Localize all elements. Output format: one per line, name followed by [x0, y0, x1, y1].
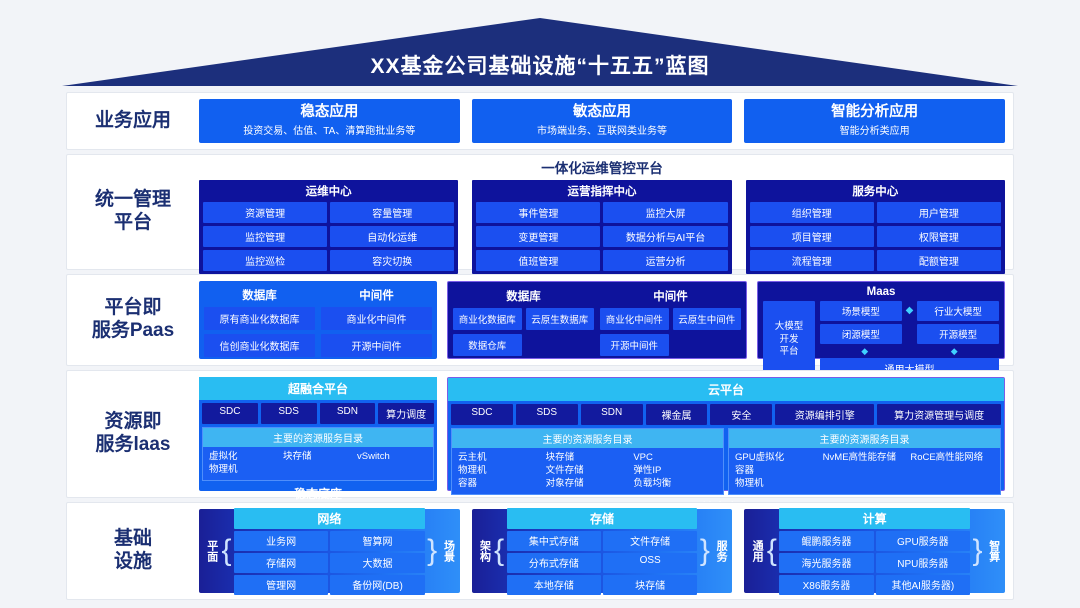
iaas-catalog-item: vSwitch [357, 451, 427, 463]
up-arrow-icon: ◆ [910, 347, 1000, 355]
iaas-catalog-item: GPU虚拟化 [735, 452, 819, 464]
row-label-business-apps: 业务应用 [67, 93, 199, 149]
iaas-catalog-col: 块存储 [283, 451, 353, 476]
infra-cell[interactable]: 存储网 [234, 553, 328, 573]
row-iaas: 资源即 服务laas 超融合平台 SDC SDS SDN 算力调度 主要的资源服… [66, 370, 1014, 498]
mgmt-cell[interactable]: 变更管理 [476, 226, 600, 247]
infra-cell[interactable]: 备份网(DB) [330, 575, 424, 595]
paas-maas-block: Maas 大模型 开发 平台 场景模型 ◆ 行业大模型 闭源模型 ◆ [757, 281, 1005, 359]
paas-item[interactable]: 开源中间件 [600, 334, 669, 356]
up-arrow-icon: ◆ [820, 347, 910, 355]
mgmt-cell[interactable]: 权限管理 [877, 226, 1001, 247]
mgmt-cell[interactable]: 资源管理 [203, 202, 327, 223]
paas-group-middleware-cloud: 中间件 商业化中间件 云原生中间件 开源中间件 [600, 287, 741, 353]
title-banner: XX基金公司基础设施“十五五”蓝图 [62, 18, 1018, 86]
unified-platform-columns: 运维中心 资源管理 容量管理 监控管理 自动化运维 监控巡检 容灾切换 运营指挥… [199, 180, 1005, 274]
paas-group-database-legacy: 数据库 原有商业化数据库 信创商业化数据库 [204, 286, 315, 354]
iaas-tag[interactable]: SDS [261, 403, 317, 424]
infra-card-compute: 通用 { 计算 鲲鹏服务器 GPU服务器 海光服务器 NPU服务器 X86服务器… [744, 509, 1005, 593]
infra-card-network: 平面 { 网络 业务网 智算网 存储网 大数据 管理网 备份网(DB) [199, 509, 460, 593]
mgmt-cell[interactable]: 自动化运维 [330, 226, 454, 247]
row-label-infrastructure: 基础 设施 [67, 503, 199, 599]
paas-item[interactable]: 信创商业化数据库 [204, 334, 315, 357]
infra-cell[interactable]: 管理网 [234, 575, 328, 595]
iaas-tag[interactable]: 资源编排引擎 [775, 404, 874, 425]
mgmt-column-operations-command-center[interactable]: 运营指挥中心 事件管理 监控大屏 变更管理 数据分析与AI平台 值班管理 运营分… [472, 180, 731, 274]
paas-group-title: 数据库 [204, 286, 315, 307]
iaas-catalog-col: NvME高性能存储 [823, 452, 907, 490]
infra-right-label: 服务 [712, 540, 728, 562]
row-label-paas: 平台即 服务Paas [67, 275, 199, 365]
app-card-title: 智能分析应用 [831, 103, 918, 123]
paas-group-title: 数据库 [453, 287, 594, 308]
infra-cell[interactable]: 智算网 [330, 531, 424, 551]
iaas-catalog: 主要的资源服务目录 GPU虚拟化 容器 物理机 NvME高性能存储 [728, 428, 1001, 495]
mgmt-cell[interactable]: 用户管理 [877, 202, 1001, 223]
mgmt-cell[interactable]: 容灾切换 [330, 250, 454, 271]
iaas-catalog-item: 容器 [458, 478, 542, 490]
iaas-tag[interactable]: 算力调度 [378, 403, 434, 424]
paas-group-database-cloud: 数据库 商业化数据库 云原生数据库 数据仓库 [453, 287, 594, 353]
mgmt-cell[interactable]: 项目管理 [750, 226, 874, 247]
mgmt-column-title: 运营指挥中心 [472, 180, 731, 202]
iaas-catalog-col: GPU虚拟化 容器 物理机 [735, 452, 819, 490]
iaas-hyperconverged-block: 超融合平台 SDC SDS SDN 算力调度 主要的资源服务目录 虚拟化 [199, 377, 437, 491]
maas-arrow-row: ◆ ◆ [820, 347, 999, 355]
mgmt-column-service-center[interactable]: 服务中心 组织管理 用户管理 项目管理 权限管理 流程管理 配额管理 [746, 180, 1005, 274]
infra-cell[interactable]: X86服务器 [779, 575, 873, 595]
iaas-catalog-item: 块存储 [546, 452, 630, 464]
paas-item[interactable]: 云原生中间件 [673, 308, 742, 330]
paas-group-title: 中间件 [600, 287, 741, 308]
infra-card-storage: 架构 { 存储 集中式存储 文件存储 分布式存储 OSS 本地存储 块存储 [472, 509, 733, 593]
iaas-tag[interactable]: SDC [202, 403, 258, 424]
maas-cell-scene-model[interactable]: 场景模型 [820, 301, 902, 321]
row-label-unified-management: 统一管理 平台 [67, 155, 199, 269]
infra-right-label: 智算 [985, 540, 1001, 562]
infra-left-label: 通用 [748, 540, 764, 562]
iaas-tag[interactable]: SDN [581, 404, 643, 425]
iaas-platform-title: 超融合平台 [199, 377, 437, 400]
mgmt-column-title: 运维中心 [199, 180, 458, 202]
maas-dev-platform[interactable]: 大模型 开发 平台 [763, 301, 815, 379]
mgmt-cell[interactable]: 流程管理 [750, 250, 874, 271]
iaas-cloud-platform-block: 云平台 SDC SDS SDN 裸金属 安全 资源编排引擎 算力资源管理与调度 … [447, 377, 1005, 491]
mgmt-cell[interactable]: 运营分析 [603, 250, 727, 271]
row-business-apps: 业务应用 稳态应用 投资交易、估值、TA、清算跑批业务等 敏态应用 市场端业务、… [66, 92, 1014, 150]
mgmt-cell[interactable]: 值班管理 [476, 250, 600, 271]
maas-cell-closed-source[interactable]: 闭源模型 [820, 324, 902, 344]
iaas-catalog-item: NvME高性能存储 [823, 452, 907, 464]
iaas-catalog-head: 主要的资源服务目录 [452, 429, 723, 448]
iaas-catalog-head: 主要的资源服务目录 [203, 428, 433, 447]
left-brace-icon: { [494, 536, 505, 566]
paas-item[interactable]: 商业化数据库 [453, 308, 522, 330]
app-card-title: 敏态应用 [573, 103, 631, 123]
infra-cell[interactable]: 文件存储 [603, 531, 697, 551]
mgmt-cell[interactable]: 事件管理 [476, 202, 600, 223]
app-card-title: 稳态应用 [300, 103, 358, 123]
right-brace-icon: } [699, 536, 710, 566]
iaas-catalog-item: 块存储 [283, 451, 353, 463]
infra-cell[interactable]: 业务网 [234, 531, 328, 551]
iaas-catalog-col: 云主机 物理机 容器 [458, 452, 542, 490]
iaas-tag[interactable]: 安全 [710, 404, 772, 425]
maas-cell-open-source[interactable]: 开源模型 [917, 324, 999, 344]
left-brace-icon: { [221, 536, 232, 566]
paas-item[interactable]: 商业化中间件 [600, 308, 669, 330]
blueprint-page: XX基金公司基础设施“十五五”蓝图 业务应用 稳态应用 投资交易、估值、TA、清… [0, 0, 1080, 608]
left-brace-icon: { [766, 536, 777, 566]
unified-platform-title: 一体化运维管控平台 [199, 161, 1005, 177]
bidirectional-arrow-icon: ◆ [906, 306, 914, 316]
iaas-catalog-col: RoCE高性能网络 [910, 452, 994, 490]
mgmt-column-title: 服务中心 [746, 180, 1005, 202]
paas-legacy-block: 数据库 原有商业化数据库 信创商业化数据库 中间件 商业化中间件 开源中间件 [199, 281, 437, 359]
mgmt-cell[interactable]: 配额管理 [877, 250, 1001, 271]
iaas-catalog-item: VPC [633, 452, 717, 464]
infra-cell[interactable]: OSS [603, 553, 697, 573]
infra-right-label: 场景 [440, 540, 456, 562]
infra-head: 网络 [234, 508, 425, 529]
iaas-catalog: 主要的资源服务目录 云主机 物理机 容器 块存储 文件存储 [451, 428, 724, 495]
mgmt-cell[interactable]: 组织管理 [750, 202, 874, 223]
iaas-tag[interactable]: 算力资源管理与调度 [877, 404, 1001, 425]
mgmt-cell[interactable]: 监控管理 [203, 226, 327, 247]
app-card-subtitle: 智能分析类应用 [840, 125, 910, 139]
row-paas: 平台即 服务Paas 数据库 原有商业化数据库 信创商业化数据库 中间件 商业化 [66, 274, 1014, 366]
paas-item[interactable]: 数据仓库 [453, 334, 522, 356]
infra-cell[interactable]: 海光服务器 [779, 553, 873, 573]
iaas-tag[interactable]: SDC [451, 404, 513, 425]
paas-cloudnative-block: 数据库 商业化数据库 云原生数据库 数据仓库 中间件 商业化中间件 云原生中间件… [447, 281, 747, 359]
paas-group-middleware-legacy: 中间件 商业化中间件 开源中间件 [321, 286, 432, 354]
business-app-cards: 稳态应用 投资交易、估值、TA、清算跑批业务等 敏态应用 市场端业务、互联网类业… [199, 99, 1005, 143]
paas-group-title: 中间件 [321, 286, 432, 307]
iaas-catalog-head: 主要的资源服务目录 [729, 429, 1000, 448]
infra-head: 计算 [779, 508, 970, 529]
iaas-tag[interactable]: 裸金属 [646, 404, 708, 425]
app-card-intelligent-analytics[interactable]: 智能分析应用 智能分析类应用 [744, 99, 1005, 143]
iaas-tag[interactable]: SDN [320, 403, 376, 424]
page-title: XX基金公司基础设施“十五五”蓝图 [370, 50, 709, 86]
iaas-catalog-item: 虚拟化 [209, 451, 279, 463]
mgmt-cell[interactable]: 数据分析与AI平台 [603, 226, 727, 247]
row-infrastructure: 基础 设施 平面 { 网络 业务网 智算网 存储网 大数据 管理网 备份网( [66, 502, 1014, 600]
iaas-catalog-item: 弹性IP [633, 465, 717, 477]
iaas-catalog: 主要的资源服务目录 虚拟化 物理机 块存储 vSwitc [202, 427, 434, 481]
app-card-subtitle: 市场端业务、互联网类业务等 [537, 125, 667, 139]
iaas-catalog-col: 块存储 文件存储 对象存储 [546, 452, 630, 490]
mgmt-cell[interactable]: 监控巡检 [203, 250, 327, 271]
infra-head: 存储 [507, 508, 698, 529]
iaas-catalog-item: 物理机 [458, 465, 542, 477]
iaas-catalog-item: 云主机 [458, 452, 542, 464]
infra-cell[interactable]: 集中式存储 [507, 531, 601, 551]
iaas-catalog-col: VPC 弹性IP 负载均衡 [633, 452, 717, 490]
infra-left-label: 架构 [476, 540, 492, 562]
iaas-catalog-col: 虚拟化 物理机 [209, 451, 279, 476]
right-brace-icon: } [972, 536, 983, 566]
iaas-catalog-item: 文件存储 [546, 465, 630, 477]
app-card-stable[interactable]: 稳态应用 投资交易、估值、TA、清算跑批业务等 [199, 99, 460, 143]
infra-cell[interactable]: 块存储 [603, 575, 697, 595]
app-card-subtitle: 投资交易、估值、TA、清算跑批业务等 [243, 125, 415, 139]
mgmt-column-ops-center[interactable]: 运维中心 资源管理 容量管理 监控管理 自动化运维 监控巡检 容灾切换 [199, 180, 458, 274]
row-unified-management: 统一管理 平台 一体化运维管控平台 运维中心 资源管理 容量管理 监控管理 自动… [66, 154, 1014, 270]
infra-cell[interactable]: 大数据 [330, 553, 424, 573]
iaas-catalog-item: 物理机 [735, 478, 819, 490]
iaas-platform-title: 云平台 [448, 378, 1004, 401]
iaas-catalog-item: RoCE高性能网络 [910, 452, 994, 464]
paas-item[interactable]: 商业化中间件 [321, 307, 432, 330]
right-brace-icon: } [427, 536, 438, 566]
row-label-iaas: 资源即 服务laas [67, 371, 199, 497]
paas-item[interactable]: 开源中间件 [321, 334, 432, 357]
infra-cell[interactable]: 本地存储 [507, 575, 601, 595]
infra-left-label: 平面 [203, 540, 219, 562]
infra-cell[interactable]: NPU服务器 [876, 553, 970, 573]
mgmt-cell[interactable]: 容量管理 [330, 202, 454, 223]
mgmt-cell[interactable]: 监控大屏 [603, 202, 727, 223]
iaas-tag[interactable]: SDS [516, 404, 578, 425]
infra-cell[interactable]: 分布式存储 [507, 553, 601, 573]
maas-title: Maas [763, 285, 999, 301]
infra-cell[interactable]: 其他AI服务器) [876, 575, 970, 595]
iaas-catalog-item: 负载均衡 [633, 478, 717, 490]
app-card-agile[interactable]: 敏态应用 市场端业务、互联网类业务等 [472, 99, 733, 143]
paas-item[interactable]: 云原生数据库 [526, 308, 595, 330]
iaas-catalog-item: 对象存储 [546, 478, 630, 490]
maas-cell-industry-model[interactable]: 行业大模型 [917, 301, 999, 321]
infra-cell[interactable]: GPU服务器 [876, 531, 970, 551]
iaas-catalog-col: vSwitch [357, 451, 427, 476]
paas-item[interactable]: 原有商业化数据库 [204, 307, 315, 330]
infra-cell[interactable]: 鲲鹏服务器 [779, 531, 873, 551]
iaas-catalog-item: 容器 [735, 465, 819, 477]
iaas-catalog-item: 物理机 [209, 464, 279, 476]
